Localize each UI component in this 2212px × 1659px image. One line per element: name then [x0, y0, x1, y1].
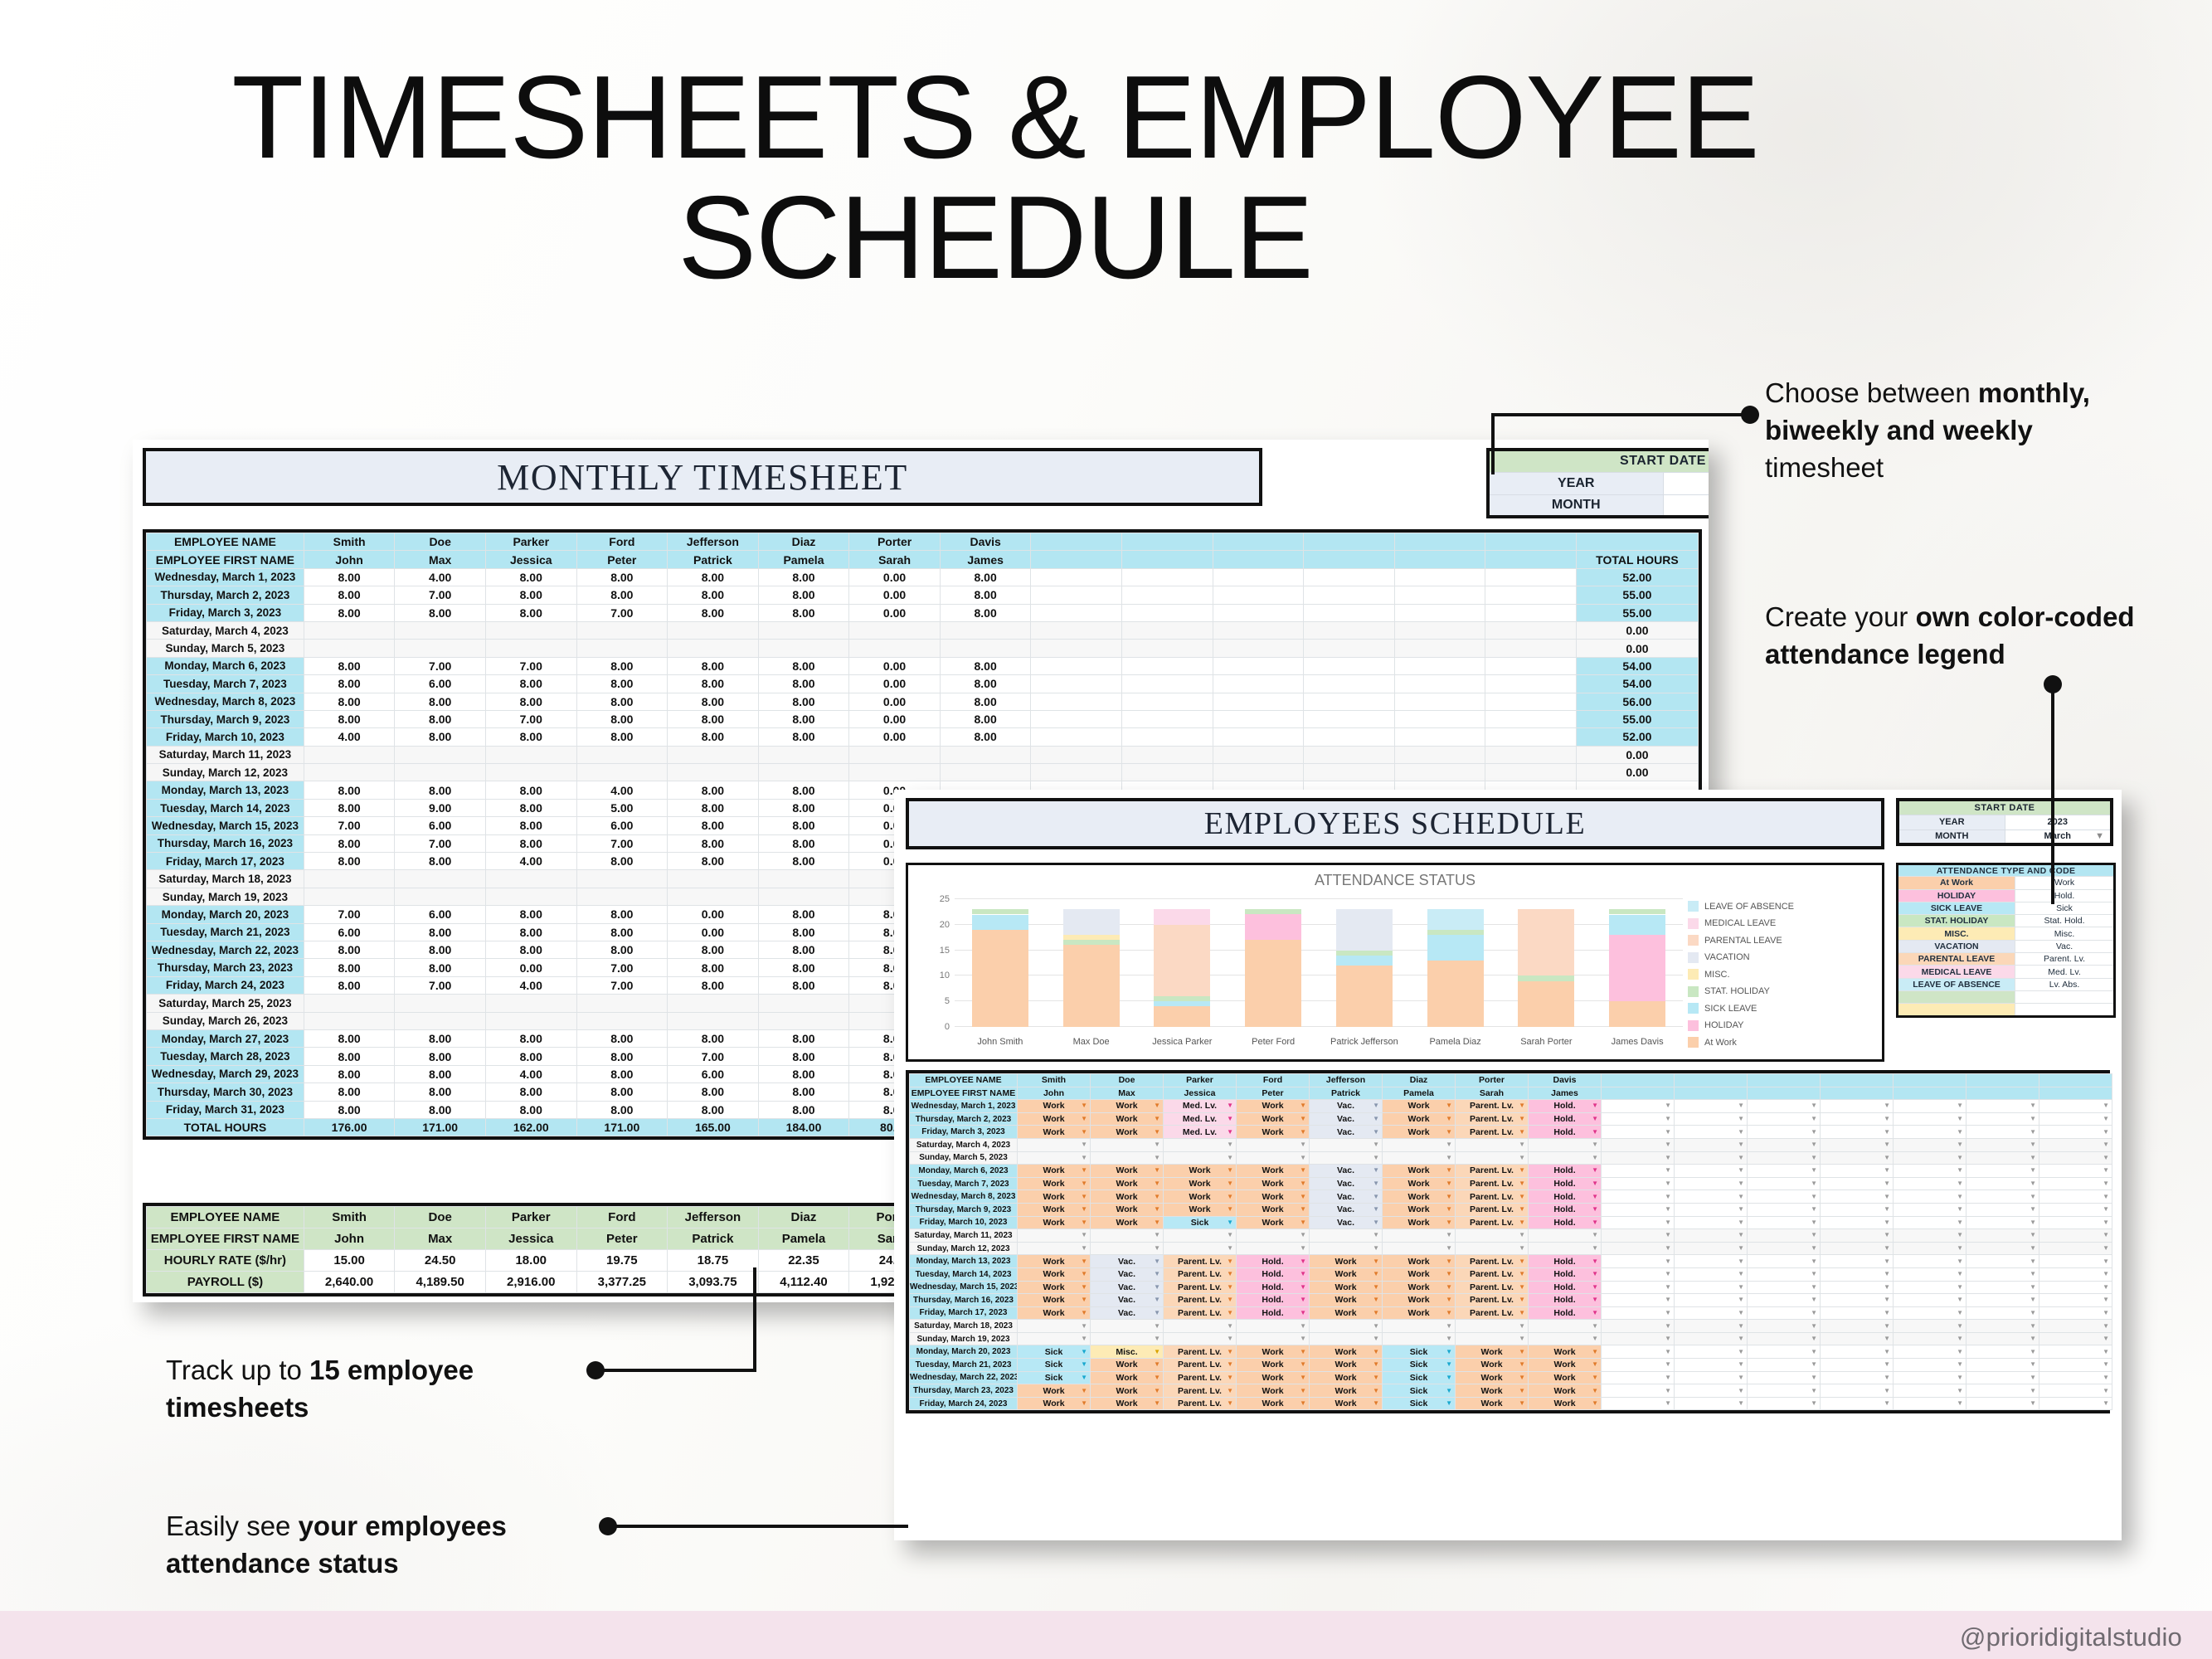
annotation-track-employees: Track up to 15 employee timesheets [166, 1352, 614, 1427]
annotation-2-pre: Create your [1765, 601, 1916, 632]
annotation-3-pre: Track up to [166, 1355, 309, 1385]
annotation-attendance-status: Easily see your employees attendance sta… [166, 1508, 630, 1583]
annotation-1-post: timesheet [1765, 452, 1884, 483]
annotation-choose-timesheet: Choose between monthly, biweekly and wee… [1765, 375, 2155, 487]
leader-dot-2 [2044, 675, 2062, 693]
leader-dot-1 [1741, 406, 1759, 424]
annotation-4-pre: Easily see [166, 1511, 299, 1541]
leader-line-3 [596, 1267, 755, 1370]
annotation-1-pre: Choose between [1765, 377, 1978, 408]
leader-line-1 [1493, 415, 1750, 474]
annotation-color-legend: Create your own color-coded attendance l… [1765, 599, 2155, 674]
